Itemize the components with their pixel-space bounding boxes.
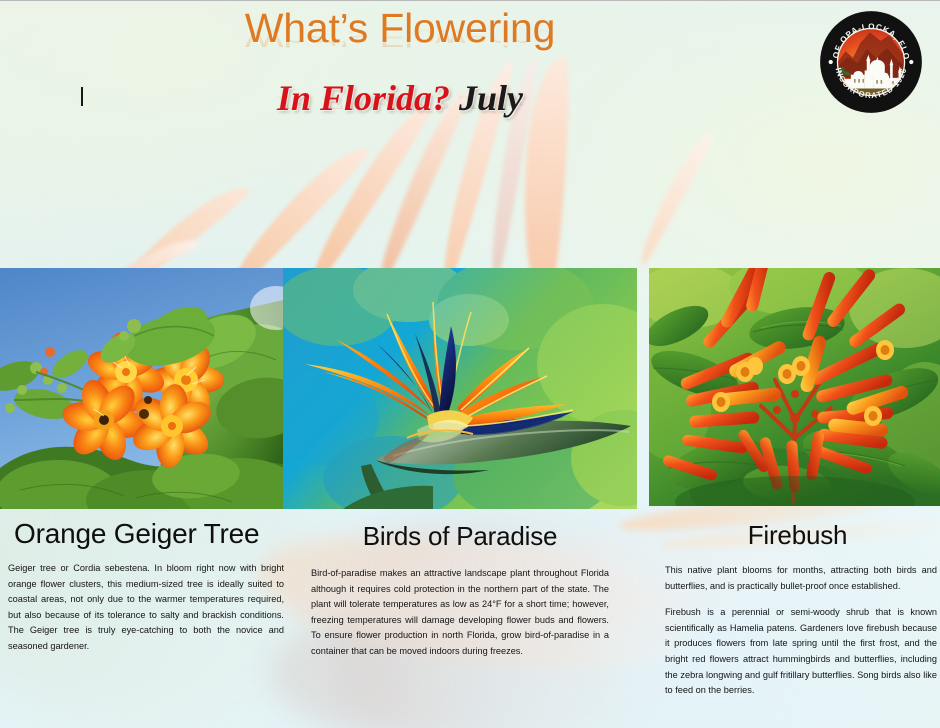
city-seal-icon: CITY OF OPA-LOCKA, FLORIDA INCORPORATED … (818, 9, 924, 115)
page-title-month: July (459, 78, 523, 118)
paragraph: This native plant blooms for months, att… (665, 563, 937, 594)
heading-firebush: Firebush (655, 509, 940, 548)
body-firebush: This native plant blooms for months, att… (665, 563, 937, 699)
column-birds-of-paradise-clip: Birds of Paradise Bird-of-paradise makes… (300, 509, 620, 728)
firebush-photo (649, 268, 940, 506)
heading-birds-of-paradise: Birds of Paradise (300, 509, 620, 549)
bird-of-paradise-photo (283, 268, 637, 509)
body-birds-of-paradise: Bird-of-paradise makes an attractive lan… (311, 566, 609, 660)
paragraph: Firebush is a perennial or semi-woody sh… (665, 605, 937, 699)
page-title-line2: In Florida? July (0, 77, 800, 119)
column-orange-geiger-tree: Orange Geiger Tree Geiger tree or Cordia… (0, 509, 290, 655)
column-birds-of-paradise: Birds of Paradise Bird-of-paradise makes… (300, 509, 620, 660)
column-firebush: Firebush This native plant blooms for mo… (655, 509, 940, 699)
page-title-state: In Florida? (277, 78, 450, 118)
header: What’s Flowering What’s Flowering In Flo… (0, 1, 940, 151)
paragraph: Bird-of-paradise makes an attractive lan… (311, 566, 609, 660)
body-orange-geiger-tree: Geiger tree or Cordia sebestena. In bloo… (8, 561, 284, 655)
page-title-line1-reflection: What’s Flowering (0, 24, 800, 51)
orange-geiger-tree-photo (0, 268, 283, 509)
paragraph: Geiger tree or Cordia sebestena. In bloo… (8, 561, 284, 655)
flyer-page: What’s Flowering What’s Flowering In Flo… (0, 0, 940, 728)
photo-band (0, 268, 940, 509)
heading-orange-geiger-tree: Orange Geiger Tree (0, 509, 290, 548)
